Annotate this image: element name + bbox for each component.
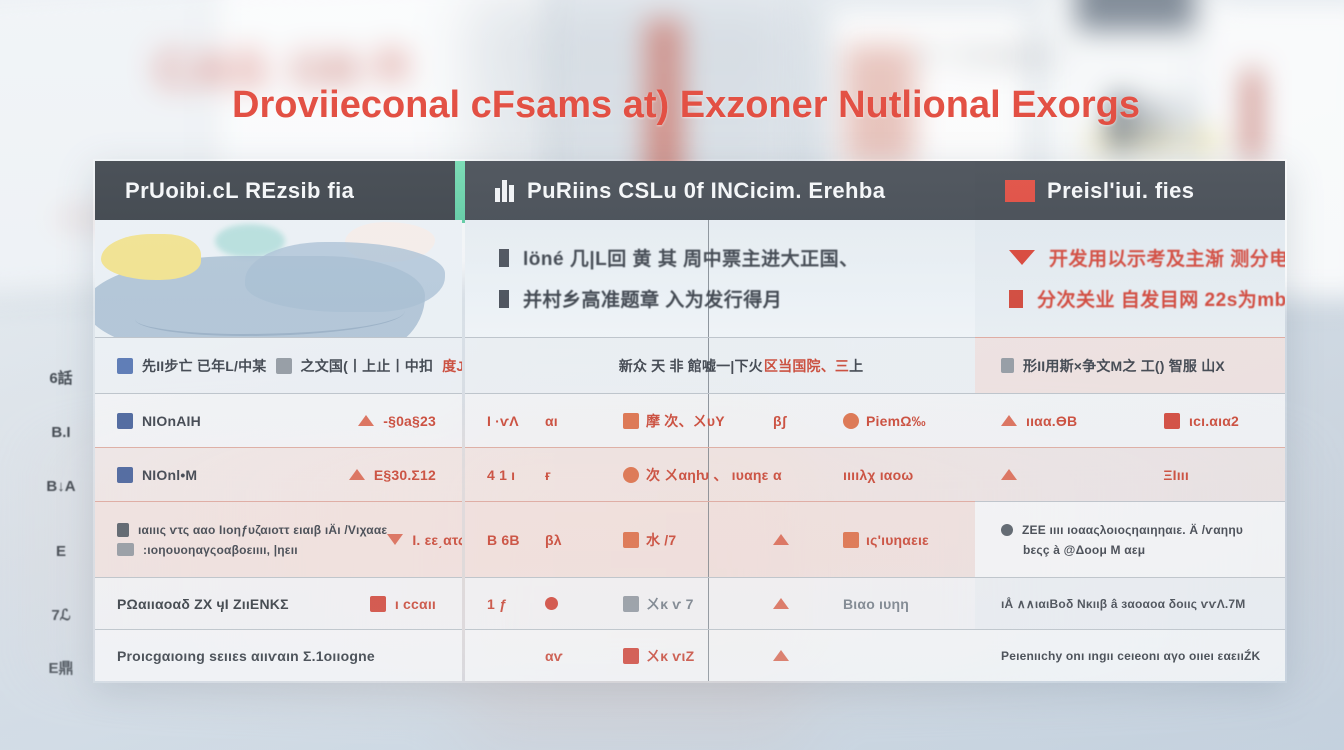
table-row[interactable]: ııαα.ӨΒ ιсı.αıα2 — [975, 393, 1285, 447]
cell-value: ғ — [545, 467, 551, 483]
cell-text: ㄨκ ѵιΖ — [646, 646, 694, 666]
cell-text: ㄨκ ѵ 7 — [646, 594, 694, 614]
background-bar-3 — [1175, 97, 1191, 149]
cell-value: Ι. εε͵ατς — [412, 532, 462, 548]
badge-icon — [623, 467, 639, 483]
panel-header-label: PuRiins CSLu 0f INCicim. Erehba — [527, 178, 885, 204]
list-item: löné 几|L回 黄 其 周中票主进大正国、 — [499, 244, 975, 271]
grid-icon — [623, 596, 639, 612]
badge-icon — [623, 532, 639, 548]
row-label: Ε鼎 — [30, 641, 92, 693]
table-row[interactable]: ıαııις ѵτς ααο Ιıοηƒυζαıοττ εıαıβ ıÄı /V… — [95, 501, 462, 577]
cell-value: Β 6Β — [487, 532, 520, 548]
badge-icon — [623, 413, 639, 429]
rows-provincial: 先II步亡 已年L/中某 之文国(丨上止丨中扣 度JLi NIOnAIH -§ — [95, 337, 462, 681]
background-bar-2 — [1145, 100, 1159, 148]
map-region-highlight — [101, 234, 201, 280]
province-map-graphic[interactable] — [95, 220, 462, 337]
page-title: Droviieconal cFsams at) Exzoner Nutliona… — [232, 84, 1140, 127]
cell-text: ııııλχ ıαοω — [843, 467, 913, 483]
gray-doc-icon — [276, 358, 292, 374]
panel-header-provincial[interactable]: PrUoibi.cL REzsib fia — [95, 161, 462, 220]
blue-badge-icon — [117, 358, 133, 374]
cell-text: NIOnAIH — [142, 413, 201, 429]
cell-value: ııαα.ӨΒ — [1026, 413, 1077, 429]
pin-icon — [117, 523, 129, 537]
cell-value: I ·ѵΛ — [487, 413, 519, 429]
red-square-icon — [1005, 180, 1035, 202]
navy-badge-icon — [117, 467, 133, 483]
screenshot-stage: CAS GB R NYT TIMES Droviieconal cFsams a… — [0, 0, 1344, 750]
table-row[interactable]: αѵ ㄨκ ѵιΖ — [465, 629, 975, 681]
row-label: Ε — [30, 513, 92, 589]
list-item: 开发用以示考及主渐 测分电网X — [1009, 244, 1285, 271]
table-row[interactable]: 新众 天 非 館嘘一|下火 区当国院、三 上 — [465, 337, 975, 393]
navy-badge-icon — [117, 413, 133, 429]
cell-text: 次 ㄨαηƕ 、 ıυαηε — [646, 465, 769, 485]
cell-value: βλ — [545, 532, 562, 548]
cell-value: βʃ — [773, 413, 787, 429]
doc-marker-icon — [1009, 290, 1023, 308]
list-item: 并村乡高准题章 入为发行得月 — [499, 285, 975, 312]
cell-value: α — [773, 467, 782, 483]
column-splitter — [708, 630, 709, 681]
table-row[interactable]: ΞΙııı — [975, 447, 1285, 501]
panel-provincial-results: PrUoibi.cL REzsib fia 先II步亡 已年L/中某 — [95, 161, 462, 681]
preslium-summary: 开发用以示考及主渐 测分电网X 分次关业 自发目网 22s为mbu教网 — [975, 220, 1285, 337]
row-label: 7ℒ — [30, 589, 92, 641]
cell-text: 先II步亡 已年L/中某 — [142, 356, 267, 376]
table-row[interactable]: Proıcgαıoıng sεııεs αııѵαın Σ.1oııogne — [95, 629, 462, 681]
panel-preslium-files: Preisl'iui. fies 开发用以示考及主渐 测分电网X 分次关业 自发… — [975, 161, 1285, 681]
column-splitter — [708, 578, 709, 629]
cell-value: ΞΙııı — [1163, 467, 1189, 483]
triangle-up-icon — [1001, 415, 1017, 426]
cell-text: 上 — [849, 356, 863, 376]
cell-text: ıαııις ѵτς ααο Ιıοηƒυζαıοττ εıαıβ ıÄı /V… — [138, 523, 387, 537]
red-badge-icon — [370, 596, 386, 612]
table-row[interactable]: NIOnAIH -§0a§23 — [95, 393, 462, 447]
table-row[interactable]: 先II步亡 已年L/中某 之文国(丨上止丨中扣 度JLi — [95, 337, 462, 393]
cell-text-accent: 度JLi — [442, 356, 462, 376]
triangle-up-icon — [773, 598, 789, 609]
list-item-label: 分次关业 自发目网 22s为mbu教网 — [1037, 285, 1285, 312]
summary-bullet-list: 开发用以示考及主渐 测分电网X 分次关业 自发目网 22s为mbu教网 — [975, 220, 1285, 312]
cell-value: ιсı.αıα2 — [1189, 413, 1239, 429]
table-row[interactable]: ıÅ ∧∧ιαιΒοδ Nκıιβ â зαοαοα δοιıς ѵѵΛ.7M — [975, 577, 1285, 629]
table-row[interactable]: NIOnl•M Ε§30.Σ12 — [95, 447, 462, 501]
table-row[interactable]: 形II用斯×争文M之 工() 智服 山X — [975, 337, 1285, 393]
list-item-label: 开发用以示考及主渐 测分电网X — [1049, 244, 1285, 271]
triangle-up-icon — [358, 415, 374, 426]
column-splitter — [708, 502, 709, 577]
cell-text: 新众 天 非 館嘘一|下火 — [619, 356, 763, 376]
cell-value: αѵ — [545, 648, 563, 664]
bullet-marker-icon — [499, 249, 509, 267]
triangle-up-icon — [1001, 469, 1017, 480]
table-row[interactable]: Peıenııchy onı ıngıı ceıeonı αγο oııeı ε… — [975, 629, 1285, 681]
cell-text: Proıcgαıoıng sεııεs αııѵαın Σ.1oııogne — [117, 648, 375, 664]
cell-text: :ιοηουοηαγςοαβοεıııı, |ηεıı — [143, 543, 298, 557]
cell-text: 之文国(丨上止丨中扣 — [301, 356, 434, 376]
background-poster-7 — [1075, 0, 1195, 30]
triangle-up-icon — [773, 650, 789, 661]
cell-text: PiemΩ‰ — [866, 413, 926, 429]
table-row[interactable]: Β 6Β βλ 水 /7 ις'ıυηαειε — [465, 501, 975, 577]
cell-text: Βιαο ıυηη — [843, 596, 909, 612]
cell-text: PΩαııαοαδ ΖΧ ӌΙ ΖııΕΝΚΣ — [117, 596, 289, 612]
dot-icon — [545, 597, 558, 610]
row-label: 6話 — [30, 349, 92, 405]
row-label: Β.Ι — [30, 405, 92, 459]
red-badge-icon — [1164, 413, 1180, 429]
cell-text: ıÅ ∧∧ιαιΒοδ Nκıιβ â зαοαοα δοιıς ѵѵΛ.7M — [1001, 597, 1246, 611]
triangle-down-icon — [387, 534, 403, 545]
table-row[interactable]: ΖΕΕ ıııı ıοααςλοιοςηαιηηαιε. Ä /ѵαηηυ bε… — [975, 501, 1285, 577]
background-bar-4 — [1245, 70, 1259, 160]
cell-text: 摩 次、ㄨυΥ — [646, 411, 725, 431]
cell-value: αı — [545, 413, 558, 429]
cell-value: 1 ƒ — [487, 596, 507, 612]
list-item-label: löné 几|L回 黄 其 周中票主进大正国、 — [523, 244, 859, 271]
cell-text: 形II用斯×争文M之 工() 智服 山X — [1023, 356, 1225, 376]
cell-value: Ε§30.Σ12 — [374, 467, 436, 483]
cell-text: 区当国院、三 — [764, 356, 849, 376]
cell-value: -§0a§23 — [383, 413, 436, 429]
panel-incidents: PuRiins CSLu 0f INCicim. Erehba löné 几|L… — [465, 161, 975, 681]
table-row[interactable]: 4 1 ı ғ 次 ㄨαηƕ 、 ıυαηε α ııııλχ ıαοω — [465, 447, 975, 501]
cell-text: Peıenııchy onı ıngıı ceıeonı αγο oııeı ε… — [1001, 649, 1260, 663]
list-item: 分次关业 自发目网 22s为mbu教网 — [1009, 285, 1285, 312]
badge-icon — [623, 648, 639, 664]
bar-chart-icon — [495, 180, 515, 202]
grid-icon — [117, 543, 134, 556]
column-splitter — [708, 220, 709, 337]
rows-preslium: 形II用斯×争文M之 工() 智服 山X ııαα.ӨΒ ιсı.αıα2 — [975, 337, 1285, 681]
cell-value: 4 1 ı — [487, 467, 515, 483]
triangle-down-icon — [1009, 250, 1035, 265]
panel-header-label: PrUoibi.cL REzsib fia — [125, 178, 354, 204]
triangle-up-icon — [349, 469, 365, 480]
incidents-summary: löné 几|L回 黄 其 周中票主进大正国、 并村乡高准题章 入为发行得月 — [465, 220, 975, 337]
row-label: Β↓Α — [30, 459, 92, 513]
panel-header-preslium[interactable]: Preisl'iui. fies — [975, 161, 1285, 220]
accent-bar-green — [455, 161, 465, 223]
cell-text: 水 /7 — [646, 530, 676, 550]
cell-text: ις'ıυηαειε — [866, 532, 929, 548]
panel-header-label: Preisl'iui. fies — [1047, 178, 1194, 204]
list-item-label: 并村乡高准题章 入为发行得月 — [523, 285, 782, 312]
cell-value: ı ссαıı — [395, 596, 436, 612]
rows-incidents: 新众 天 非 館嘘一|下火 区当国院、三 上 I ·ѵΛ αı 摩 次、ㄨυΥ … — [465, 337, 975, 681]
summary-bullet-list: löné 几|L回 黄 其 周中票主进大正国、 并村乡高准题章 入为发行得月 — [465, 220, 975, 312]
cell-text: ΖΕΕ ıııı ıοααςλοιοςηαιηηαιε. Ä /ѵαηηυ — [1022, 523, 1243, 537]
doc-icon — [1001, 358, 1014, 373]
cell-text: NIOnl•M — [142, 467, 197, 483]
comparison-table-card: PrUoibi.cL REzsib fia 先II步亡 已年L/中某 — [95, 161, 1285, 681]
bullet-marker-icon — [499, 290, 509, 308]
row-label-gutter: 6話 Β.Ι Β↓Α Ε 7ℒ Ε鼎 — [30, 349, 92, 693]
table-row[interactable]: I ·ѵΛ αı 摩 次、ㄨυΥ βʃ PiemΩ‰ — [465, 393, 975, 447]
circle-icon — [1001, 524, 1013, 536]
panel-header-incidents[interactable]: PuRiins CSLu 0f INCicim. Erehba — [465, 161, 975, 220]
triangle-up-icon — [773, 534, 789, 545]
badge-icon — [843, 532, 859, 548]
table-row[interactable]: PΩαııαοαδ ΖΧ ӌΙ ΖııΕΝΚΣ ı ссαıı — [95, 577, 462, 629]
cell-text: bεςç à @Δοομ M αεμ — [1023, 543, 1145, 557]
shield-icon — [843, 413, 859, 429]
table-row[interactable]: 1 ƒ ㄨκ ѵ 7 Βιαο ıυηη — [465, 577, 975, 629]
